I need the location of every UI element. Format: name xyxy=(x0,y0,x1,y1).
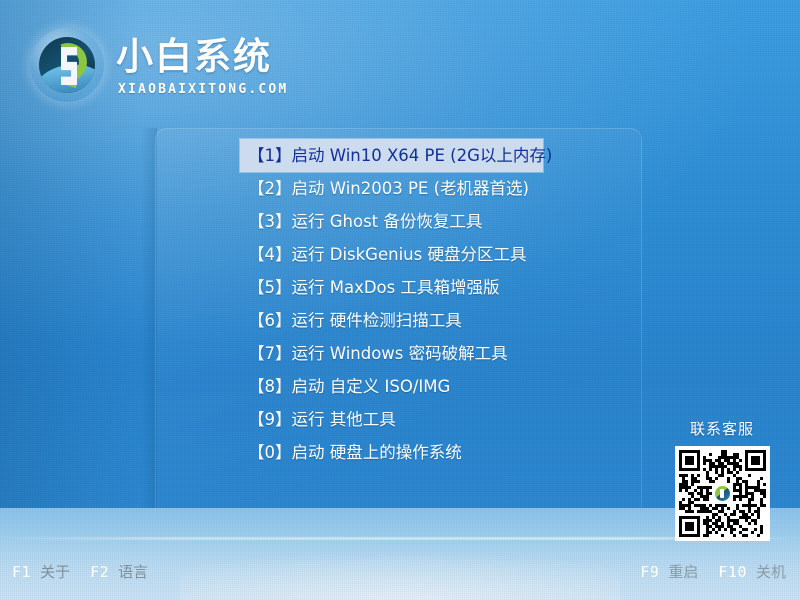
menu-item-5[interactable]: 【5】运行 MaxDos 工具箱增强版 xyxy=(240,271,560,304)
footer-key-f2[interactable]: F2 xyxy=(90,563,109,581)
menu-item-2[interactable]: 【2】启动 Win2003 PE (老机器首选) xyxy=(240,172,560,205)
menu-item-6[interactable]: 【6】运行 硬件检测扫描工具 xyxy=(240,304,560,337)
boot-menu[interactable]: 【1】启动 Win10 X64 PE (2G以上内存)【2】启动 Win2003… xyxy=(240,139,560,469)
customer-support-block: 联系客服 xyxy=(662,418,782,541)
footer-key-f1[interactable]: F1 xyxy=(12,563,31,581)
footer-label-f2: 语言 xyxy=(118,561,148,582)
brand-name-en: XIAOBAIXITONG.COM xyxy=(118,82,288,97)
footer-key-f9[interactable]: F9 xyxy=(640,563,659,581)
footer-label-f9: 重启 xyxy=(668,561,698,582)
qr-center-logo-icon xyxy=(712,484,732,504)
menu-item-1[interactable]: 【1】启动 Win10 X64 PE (2G以上内存) xyxy=(240,139,543,172)
logo-globe-icon xyxy=(39,37,95,93)
menu-item-3[interactable]: 【3】运行 Ghost 备份恢复工具 xyxy=(240,205,560,238)
support-label: 联系客服 xyxy=(662,418,782,439)
logo-s-glyph xyxy=(61,47,77,85)
qr-code-icon[interactable] xyxy=(675,446,770,541)
recycle-arrows-icon xyxy=(30,28,104,102)
brand-name-cn: 小白系统 xyxy=(116,36,272,78)
qr-center-logo-inner xyxy=(715,486,730,501)
footer-keys-right-row: F9重启F10关机 xyxy=(640,561,786,582)
footer-keys-right: F9重启F10关机 xyxy=(640,561,786,582)
brand-logo: 小白系统 XIAOBAIXITONG.COM xyxy=(28,24,278,106)
footer-keys-left: F1关于F2语言 xyxy=(12,561,159,582)
menu-item-0[interactable]: 【0】启动 硬盘上的操作系统 xyxy=(240,436,560,469)
menu-item-9[interactable]: 【9】运行 其他工具 xyxy=(240,403,560,436)
menu-item-4[interactable]: 【4】运行 DiskGenius 硬盘分区工具 xyxy=(240,238,560,271)
footer-label-f1: 关于 xyxy=(40,561,70,582)
menu-item-8[interactable]: 【8】启动 自定义 ISO/IMG xyxy=(240,370,560,403)
footer-keys-left-row: F1关于F2语言 xyxy=(12,561,159,582)
footer-key-f10[interactable]: F10 xyxy=(718,563,747,581)
menu-item-7[interactable]: 【7】运行 Windows 密码破解工具 xyxy=(240,337,560,370)
footer-label-f10: 关机 xyxy=(756,561,786,582)
